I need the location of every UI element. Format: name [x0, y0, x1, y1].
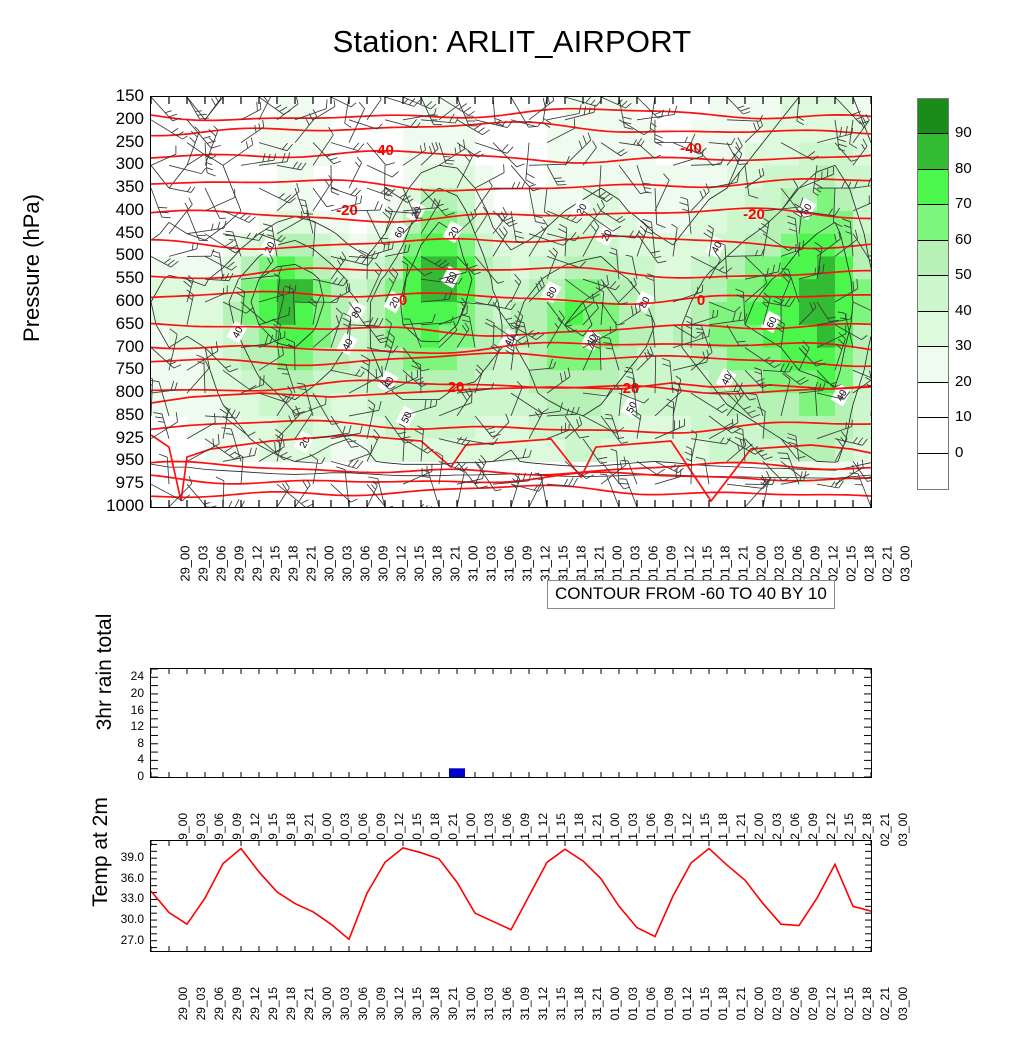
x-tick: 29_00 [143, 512, 157, 582]
colorbar-tick-label: 60 [955, 231, 972, 248]
x-tick: 31_09 [485, 956, 499, 1026]
colorbar-band [918, 347, 948, 382]
sounding-cross-section-plot[interactable]: 2020202020202040404040404040405050606060… [150, 96, 872, 508]
colorbar-band [918, 383, 948, 418]
svg-text:20: 20 [623, 380, 640, 397]
x-tick: 02_03 [737, 512, 751, 582]
main-y-tick: 450 [74, 224, 144, 241]
x-tick: 30_06 [323, 512, 337, 582]
x-tick: 29_18 [251, 512, 265, 582]
main-y-tick: 700 [74, 338, 144, 355]
main-y-tick: 300 [74, 155, 144, 172]
temp-canvas [151, 841, 871, 951]
rain-y-tick: 20 [98, 687, 144, 699]
x-tick: 31_03 [449, 956, 463, 1026]
colorbar-band [918, 312, 948, 347]
temp-y-tick: 33.0 [92, 892, 144, 904]
colorbar-band [918, 454, 948, 489]
main-y-tick: 750 [74, 360, 144, 377]
x-tick: 02_09 [773, 512, 787, 582]
x-tick: 30_03 [305, 512, 319, 582]
x-tick: 01_03 [593, 512, 607, 582]
svg-text:20: 20 [448, 379, 465, 396]
colorbar-tick-label: 30 [955, 337, 972, 354]
x-tick: 29_15 [233, 512, 247, 582]
rain-y-tick: 24 [98, 670, 144, 682]
svg-text:0: 0 [697, 292, 705, 309]
rain-x-axis-ticks: 29_0029_0329_0629_0929_1229_1529_1829_21… [150, 782, 872, 848]
x-tick: 29_15 [233, 956, 247, 1026]
main-y-tick: 975 [74, 474, 144, 491]
colorbar-tick-label: 10 [955, 408, 972, 425]
x-tick: 30_15 [377, 956, 391, 1026]
rain-canvas [151, 669, 871, 777]
x-tick: 29_21 [269, 512, 283, 582]
x-tick: 01_18 [683, 512, 697, 582]
temp-y-tick: 30.0 [92, 913, 144, 925]
colorbar-band [918, 205, 948, 240]
x-tick: 30_21 [413, 956, 427, 1026]
x-tick: 31_18 [539, 512, 553, 582]
x-tick: 01_15 [665, 512, 679, 582]
colorbar-tick-label: 70 [955, 195, 972, 212]
x-tick: 02_21 [845, 512, 859, 582]
x-tick: 29_03 [161, 956, 175, 1026]
x-tick: 30_12 [359, 956, 373, 1026]
x-tick-label: 03_00 [896, 813, 910, 879]
x-tick: 31_09 [485, 512, 499, 582]
x-tick: 31_15 [521, 512, 535, 582]
x-tick: 31_18 [539, 956, 553, 1026]
x-tick: 29_18 [251, 956, 265, 1026]
colorbar [917, 98, 949, 490]
x-tick-label: 02_21 [878, 813, 892, 879]
colorbar-band [918, 276, 948, 311]
colorbar-tick-label: 0 [955, 444, 963, 461]
svg-text:-20: -20 [743, 206, 765, 223]
rain-y-tick: 16 [98, 704, 144, 716]
x-tick-label: 03_00 [898, 546, 913, 616]
x-tick: 01_18 [683, 956, 697, 1026]
cross-section-canvas: 2020202020202040404040404040405050606060… [151, 97, 871, 507]
x-tick: 31_15 [521, 956, 535, 1026]
x-tick: 30_09 [341, 956, 355, 1026]
rain-y-tick: 12 [98, 720, 144, 732]
colorbar-labels: 9080706050403020100 [955, 98, 1011, 490]
x-tick: 30_18 [395, 512, 409, 582]
main-y-axis-label: Pressure (hPa) [19, 118, 45, 418]
colorbar-band [918, 134, 948, 169]
x-tick: 31_12 [503, 956, 517, 1026]
colorbar-tick-label: 20 [955, 373, 972, 390]
x-tick: 01_12 [647, 956, 661, 1026]
x-tick: 30_12 [359, 512, 373, 582]
x-tick: 02_03 [737, 956, 751, 1026]
x-tick: 29_03 [161, 512, 175, 582]
x-tick: 02_06 [755, 956, 769, 1026]
x-tick: 02_06 [755, 512, 769, 582]
x-tick: 29_09 [197, 512, 211, 582]
main-y-tick: 925 [74, 429, 144, 446]
main-y-tick: 950 [74, 451, 144, 468]
temp-2m-plot[interactable] [150, 840, 872, 952]
main-y-tick: 600 [74, 292, 144, 309]
x-tick: 30_18 [395, 956, 409, 1026]
main-y-tick: 550 [74, 269, 144, 286]
x-tick: 02_12 [791, 512, 805, 582]
rain-ticks [151, 669, 871, 777]
main-y-tick: 200 [74, 110, 144, 127]
rain-total-plot[interactable] [150, 668, 872, 778]
temp-line [151, 848, 871, 939]
colorbar-tick-label: 50 [955, 266, 972, 283]
x-tick: 30_00 [287, 956, 301, 1026]
x-tick: 02_15 [809, 512, 823, 582]
x-tick: 30_06 [323, 956, 337, 1026]
main-y-tick: 650 [74, 315, 144, 332]
colorbar-band [918, 170, 948, 205]
x-tick: 01_06 [611, 956, 625, 1026]
temp-x-axis-ticks: 29_0029_0329_0629_0929_1229_1529_1829_21… [150, 956, 872, 1022]
x-tick: 02_12 [791, 956, 805, 1026]
x-tick-label: 02_21 [880, 546, 895, 616]
x-tick: 01_06 [611, 512, 625, 582]
x-tick: 31_00 [431, 956, 445, 1026]
x-tick: 02_21 [845, 956, 859, 1026]
x-tick: 01_09 [629, 512, 643, 582]
svg-text:-40: -40 [372, 142, 394, 159]
colorbar-band [918, 418, 948, 453]
x-tick: 01_03 [593, 956, 607, 1026]
main-y-tick: 1000 [74, 497, 144, 514]
x-tick: 29_21 [269, 956, 283, 1026]
main-y-tick: 800 [74, 383, 144, 400]
x-tick: 02_15 [809, 956, 823, 1026]
x-tick: 01_15 [665, 956, 679, 1026]
x-tick: 01_12 [647, 512, 661, 582]
rain-bars [449, 768, 465, 777]
x-tick: 02_00 [719, 956, 733, 1026]
x-tick: 01_09 [629, 956, 643, 1026]
main-y-tick: 400 [74, 201, 144, 218]
x-tick: 31_21 [557, 956, 571, 1026]
colorbar-tick-label: 80 [955, 160, 972, 177]
colorbar-tick-label: 40 [955, 302, 972, 319]
x-tick: 03_00 [863, 956, 877, 1026]
x-tick: 29_06 [179, 512, 193, 582]
temp-ticks [151, 841, 871, 951]
main-x-axis-ticks: 29_0029_0329_0629_0929_1229_1529_1829_21… [150, 512, 872, 584]
main-y-tick: 500 [74, 246, 144, 263]
x-tick: 31_06 [467, 956, 481, 1026]
main-y-tick: 850 [74, 406, 144, 423]
x-tick: 03_00 [863, 512, 877, 582]
x-tick: 31_06 [467, 512, 481, 582]
x-tick: 31_21 [557, 512, 571, 582]
x-tick: 02_00 [719, 512, 733, 582]
x-tick: 02_09 [773, 956, 787, 1026]
x-tick: 30_03 [305, 956, 319, 1026]
x-tick: 30_15 [377, 512, 391, 582]
colorbar-tick-label: 90 [955, 124, 972, 141]
x-tick: 01_21 [701, 956, 715, 1026]
x-tick: 29_12 [215, 512, 229, 582]
x-tick: 31_12 [503, 512, 517, 582]
temp-y-tick: 27.0 [92, 934, 144, 946]
x-tick: 29_06 [179, 956, 193, 1026]
x-tick: 31_00 [431, 512, 445, 582]
main-y-axis-ticks: 1502002503003504004505005506006507007508… [72, 96, 144, 508]
x-tick: 02_18 [827, 512, 841, 582]
colorbar-band [918, 241, 948, 276]
main-y-tick: 150 [74, 87, 144, 104]
colorbar-band [918, 99, 948, 134]
x-tick: 30_09 [341, 512, 355, 582]
x-tick: 01_00 [575, 956, 589, 1026]
x-tick: 29_09 [197, 956, 211, 1026]
x-tick: 01_00 [575, 512, 589, 582]
main-y-tick: 250 [74, 133, 144, 150]
x-tick-label: 02_21 [878, 987, 892, 1053]
x-tick-label: 03_00 [896, 987, 910, 1053]
temp-y-tick: 39.0 [92, 851, 144, 863]
x-tick: 31_03 [449, 512, 463, 582]
contour-note: CONTOUR FROM -60 TO 40 BY 10 [547, 580, 835, 609]
x-tick: 29_00 [143, 956, 157, 1026]
x-tick: 29_12 [215, 956, 229, 1026]
main-y-tick: 350 [74, 178, 144, 195]
temp-y-tick: 36.0 [92, 872, 144, 884]
x-tick: 01_21 [701, 512, 715, 582]
temp-y-axis-ticks: 39.036.033.030.027.0 [90, 840, 144, 952]
page-title: Station: ARLIT_AIRPORT [0, 24, 1024, 60]
x-tick: 02_18 [827, 956, 841, 1026]
x-tick: 30_00 [287, 512, 301, 582]
x-tick: 30_21 [413, 512, 427, 582]
